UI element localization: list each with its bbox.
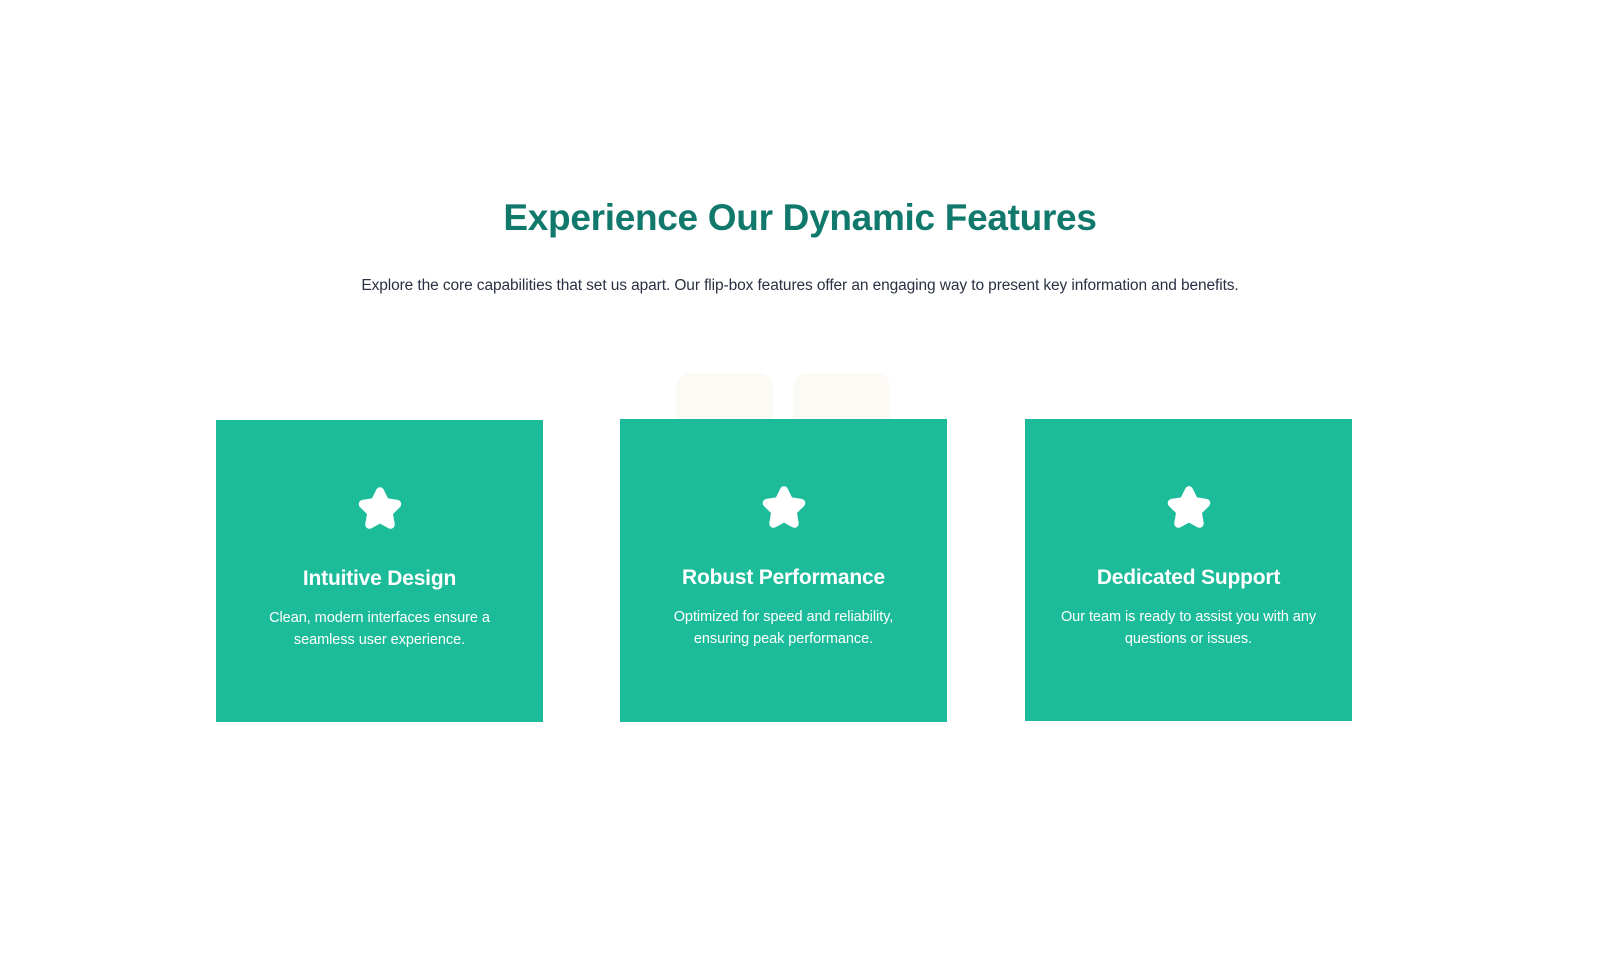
flip-card-dedicated-support[interactable]: Dedicated Support Our team is ready to a… bbox=[1025, 419, 1352, 721]
flip-card-front-face: Robust Performance Optimized for speed a… bbox=[620, 419, 947, 722]
feature-cards-row: Intuitive Design Clean, modern interface… bbox=[216, 419, 1384, 739]
flip-card-back-panel-left bbox=[676, 373, 773, 423]
flip-card-robust-performance[interactable]: Robust Performance Optimized for speed a… bbox=[620, 419, 947, 722]
flip-card-back-panel-right bbox=[793, 373, 890, 423]
features-section: Experience Our Dynamic Features Explore … bbox=[0, 0, 1600, 978]
page-title: Experience Our Dynamic Features bbox=[0, 192, 1600, 244]
feature-card-title: Robust Performance bbox=[682, 535, 885, 592]
flip-card-intuitive-design[interactable]: Intuitive Design Clean, modern interface… bbox=[216, 420, 543, 722]
feature-card-title: Dedicated Support bbox=[1097, 535, 1280, 592]
feature-card-description: Our team is ready to assist you with any… bbox=[1059, 592, 1319, 650]
star-icon bbox=[1163, 483, 1215, 535]
section-heading-block: Experience Our Dynamic Features Explore … bbox=[0, 192, 1600, 298]
flip-card-front-face: Intuitive Design Clean, modern interface… bbox=[216, 420, 543, 722]
star-icon bbox=[354, 484, 406, 536]
section-subtitle: Explore the core capabilities that set u… bbox=[0, 244, 1600, 298]
feature-card-title: Intuitive Design bbox=[303, 536, 456, 593]
feature-card-description: Optimized for speed and reliability, ens… bbox=[654, 592, 914, 650]
star-icon bbox=[758, 483, 810, 535]
flip-card-front-face: Dedicated Support Our team is ready to a… bbox=[1025, 419, 1352, 721]
feature-card-description: Clean, modern interfaces ensure a seamle… bbox=[250, 593, 510, 651]
